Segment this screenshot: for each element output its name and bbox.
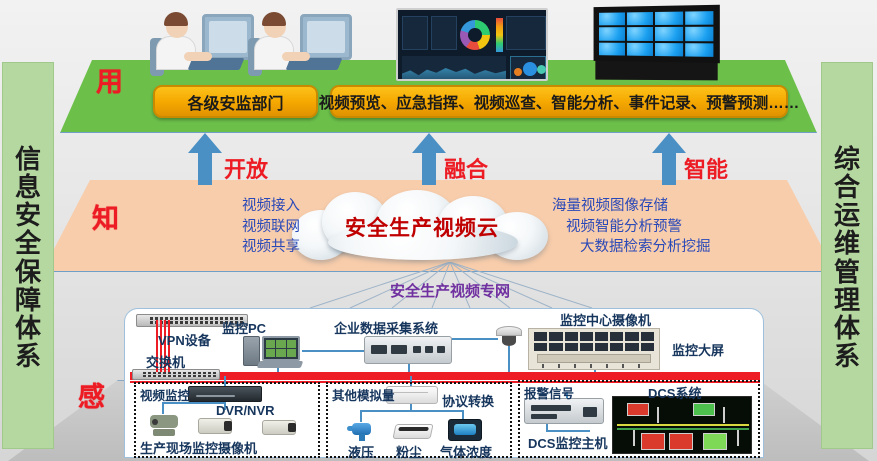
- diagram-canvas: 用 知 感 信 息 安 全 保 障 体 系 综 合 运 维 管 理 体 系: [0, 0, 877, 461]
- pillar-char: 理: [834, 286, 860, 314]
- up-arrow-icon: [188, 133, 222, 185]
- pillar-ops-management: 综 合 运 维 管 理 体 系: [821, 62, 873, 449]
- private-network-label: 安全生产视频专网: [300, 280, 600, 301]
- pillar-char: 信: [15, 145, 41, 173]
- blue-link: [508, 346, 510, 372]
- analytics-dashboard-image: [396, 8, 548, 81]
- area-chart: [402, 56, 506, 80]
- site-cameras-label: 生产现场监控摄像机: [140, 438, 257, 457]
- pillar-char: 综: [834, 145, 860, 173]
- blue-link: [302, 350, 364, 352]
- layer-label-awareness: 知: [92, 197, 119, 236]
- cloud-capability: 视频共享: [150, 237, 300, 258]
- dashboard-panel: [402, 16, 428, 50]
- cloud-capability: 视频智能分析预警: [552, 217, 752, 238]
- heat-scale: [496, 18, 503, 52]
- person-hair: [164, 12, 188, 26]
- bubble: [523, 62, 537, 76]
- enterprise-collection-label: 企业数据采集系统: [334, 318, 438, 337]
- protocol-converter-label: 协议转换: [442, 391, 494, 410]
- person-hair: [262, 12, 286, 26]
- operator-figure: [248, 8, 353, 82]
- person-arm: [184, 52, 212, 61]
- video-wall-frame: [594, 5, 720, 64]
- dashboard-panel: [431, 16, 457, 50]
- video-surveillance-title: 视频监控: [140, 385, 190, 404]
- pillar-char: 系: [834, 342, 860, 370]
- cloud-left-capabilities: 视频接入 视频联网 视频共享: [150, 196, 300, 258]
- bubble: [514, 68, 522, 76]
- screen-wall: [534, 332, 654, 351]
- video-wall-grid: [599, 11, 713, 57]
- bubble: [537, 65, 546, 74]
- arrow-label-open: 开放: [224, 152, 268, 184]
- video-wall-image: [590, 6, 722, 82]
- operators-illustration: [150, 8, 365, 82]
- alarm-signal-title: 报警信号: [524, 383, 574, 402]
- pillar-char: 保: [15, 258, 41, 286]
- layer-label-sensing: 感: [78, 375, 105, 414]
- pillar-char: 障: [15, 286, 41, 314]
- cloud-capability: 视频接入: [150, 196, 300, 217]
- pillar-char: 全: [15, 229, 41, 257]
- pillar-info-security: 信 息 安 全 保 障 体 系: [2, 62, 54, 449]
- donut-chart: [460, 20, 490, 50]
- pillar-char: 体: [834, 314, 860, 342]
- desk-legs: [542, 364, 646, 368]
- pillar-char: 管: [834, 258, 860, 286]
- console-desk: [537, 354, 651, 363]
- pillar-char: 体: [15, 314, 41, 342]
- cloud-right-capabilities: 海量视频图像存储 视频智能分析预警 大数据检索分析挖掘: [552, 196, 752, 258]
- vpn-device-label: VPN设备: [158, 330, 211, 349]
- pc-screen-icon: [262, 336, 300, 361]
- up-arrow-icon: [412, 133, 446, 185]
- pillar-char: 维: [834, 229, 860, 257]
- pillar-char: 安: [15, 201, 41, 229]
- layer-label-application: 用: [96, 60, 123, 99]
- arrow-label-convergence: 融合: [444, 152, 488, 184]
- pillar-char: 息: [15, 173, 41, 201]
- blue-link: [452, 338, 498, 340]
- pc-tower-icon: [243, 336, 260, 366]
- pillar-char: 系: [15, 342, 41, 370]
- dcs-system-label: DCS系统: [648, 383, 701, 402]
- analog-signal-title: 其他模拟量: [332, 385, 395, 404]
- control-room-image: [528, 328, 660, 370]
- function-box[interactable]: 视频预览、应急指挥、视频巡查、智能分析、事件记录、预警预测……: [330, 85, 788, 118]
- arrow-label-intelligent: 智能: [684, 152, 728, 184]
- gas-label: 气体浓度: [440, 442, 492, 461]
- pillar-char: 运: [834, 201, 860, 229]
- cloud-capability: 视频联网: [150, 217, 300, 238]
- cloud-capability: 大数据检索分析挖掘: [552, 237, 752, 258]
- dome-camera-icon: [496, 326, 522, 346]
- dept-box[interactable]: 各级安监部门: [153, 85, 318, 118]
- big-screen-label: 监控大屏: [672, 340, 724, 359]
- cloud-title: 安全生产视频云: [288, 212, 556, 242]
- dashboard-panel: [506, 16, 546, 50]
- pillar-char: 合: [834, 173, 860, 201]
- hydraulic-label: 液压: [348, 442, 374, 461]
- dust-label: 粉尘: [396, 442, 422, 461]
- dcs-host-label: DCS监控主机: [528, 433, 607, 452]
- operator-figure: [150, 8, 255, 82]
- area-wave: [402, 64, 506, 80]
- bubble-chart: [510, 56, 546, 80]
- up-arrow-icon: [652, 133, 686, 185]
- dvr-nvr-label: DVR/NVR: [216, 403, 275, 418]
- data-collection-server-icon: [364, 336, 452, 364]
- person-arm: [282, 52, 310, 61]
- cloud-capability: 海量视频图像存储: [552, 196, 752, 217]
- control-center-camera-label: 监控中心摄像机: [560, 310, 651, 329]
- pc-keyboard-icon: [257, 361, 304, 368]
- switch-device-label: 交换机: [146, 352, 185, 371]
- monitoring-pc-label: 监控PC: [222, 318, 266, 337]
